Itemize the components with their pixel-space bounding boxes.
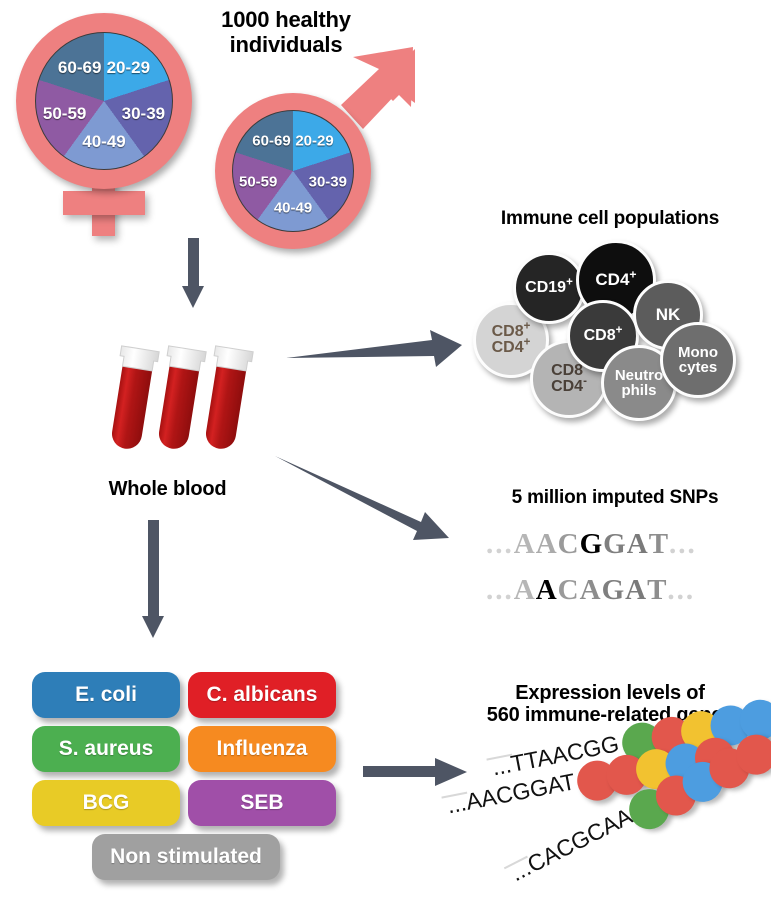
stimulus-label: Non stimulated bbox=[110, 845, 262, 869]
snp-base: A bbox=[514, 574, 536, 607]
snp-base: G bbox=[603, 528, 627, 561]
snp-variant-base: G bbox=[580, 528, 604, 561]
snp-sequence-row-1: ...AACGGAT... bbox=[486, 528, 697, 561]
snp-base: C bbox=[558, 574, 580, 607]
arrow-head bbox=[182, 286, 204, 308]
strand-sequence-text: ...CACGCAA bbox=[506, 803, 637, 887]
pie-slice-label-60-69: 60-69 bbox=[58, 58, 101, 78]
pie-slice-label-40-49: 40-49 bbox=[274, 199, 312, 216]
stimulus-e-coli[interactable]: E. coli bbox=[32, 672, 180, 718]
snp-base: . bbox=[505, 574, 514, 607]
snp-sequence-block: ...AACGGAT... ...AACAGAT... bbox=[486, 528, 736, 618]
snp-base: . bbox=[669, 528, 678, 561]
stimulus-bcg[interactable]: BCG bbox=[32, 780, 180, 826]
arrow-shaft bbox=[188, 238, 199, 290]
pie-slice-label-20-29: 20-29 bbox=[295, 133, 333, 150]
snp-base: A bbox=[627, 528, 649, 561]
snp-base: . bbox=[495, 528, 504, 561]
immune-cell-monocytes[interactable]: Monocytes bbox=[660, 322, 736, 398]
immune-cell-cluster: CD8+CD4+ CD8-CD4- CD19+ CD4+ CD8+ NK Neu… bbox=[455, 240, 755, 420]
immune-cell-label: Neutrophils bbox=[615, 368, 663, 399]
arrow-diagonal-blood-to-snps bbox=[273, 450, 463, 545]
pie-slice-label-40-49: 40-49 bbox=[82, 132, 125, 152]
snp-base: . bbox=[486, 574, 495, 607]
snp-base: A bbox=[625, 574, 647, 607]
stimulus-s-aureus[interactable]: S. aureus bbox=[32, 726, 180, 772]
pie-slice-label-50-59: 50-59 bbox=[239, 174, 277, 191]
immune-cell-label: CD19+ bbox=[525, 280, 573, 296]
snp-base: . bbox=[486, 528, 495, 561]
snp-base: . bbox=[678, 528, 687, 561]
stimulus-label: BCG bbox=[83, 791, 130, 815]
stimulus-label: S. aureus bbox=[59, 737, 154, 761]
stimulus-label: E. coli bbox=[75, 683, 137, 707]
snp-sequence-row-2: ...AACAGAT... bbox=[486, 574, 695, 607]
snp-base: . bbox=[686, 574, 695, 607]
immune-cell-label: CD8+ bbox=[584, 328, 623, 344]
snps-title: 5 million imputed SNPs bbox=[470, 487, 760, 508]
expression-strands-group: ...TTAACGG...AACGGAT...CACGCAA bbox=[455, 740, 771, 922]
arrow-down-blood-to-stimuli bbox=[140, 520, 166, 640]
immune-cell-label: CD4+ bbox=[595, 271, 636, 288]
stimulus-label: C. albicans bbox=[207, 683, 318, 707]
snp-base: . bbox=[505, 528, 514, 561]
pie-slice-label-30-39: 30-39 bbox=[309, 174, 347, 191]
snp-variant-base: A bbox=[536, 574, 558, 607]
immune-populations-title: Immune cell populations bbox=[455, 208, 765, 229]
snp-base: A bbox=[514, 528, 536, 561]
arrow-shaft bbox=[148, 520, 159, 620]
stimulus-label: SEB bbox=[240, 791, 283, 815]
whole-blood-label: Whole blood bbox=[80, 478, 255, 500]
pie-slice-label-20-29: 20-29 bbox=[107, 58, 150, 78]
stimuli-panel: E. coli C. albicans S. aureus Influenza … bbox=[30, 672, 350, 900]
expression-title-line1: Expression levels of bbox=[460, 682, 760, 704]
snp-base: C bbox=[558, 528, 580, 561]
male-gender-symbol: 20-2930-3940-4950-5960-69 bbox=[205, 45, 417, 250]
arrow-down-cohort-to-blood bbox=[180, 238, 206, 308]
pie-slice-label-60-69: 60-69 bbox=[252, 133, 290, 150]
immune-cell-label: NK bbox=[656, 306, 681, 323]
whole-blood-label-text: Whole blood bbox=[109, 478, 227, 500]
blood-tubes-group bbox=[105, 342, 265, 462]
pie-slice-label-30-39: 30-39 bbox=[122, 104, 165, 124]
immune-cell-label: CD8-CD4- bbox=[551, 363, 587, 396]
immune-cell-label: Monocytes bbox=[678, 345, 718, 376]
pie-slice-label-50-59: 50-59 bbox=[43, 104, 86, 124]
snp-base: A bbox=[580, 574, 602, 607]
stimulus-seb[interactable]: SEB bbox=[188, 780, 336, 826]
snp-base: . bbox=[688, 528, 697, 561]
immune-cell-label: CD8+CD4+ bbox=[492, 324, 531, 357]
snp-base: . bbox=[667, 574, 676, 607]
stimulus-influenza[interactable]: Influenza bbox=[188, 726, 336, 772]
arrow-head bbox=[142, 616, 164, 638]
snp-base: A bbox=[536, 528, 558, 561]
female-gender-symbol: 20-2930-3940-4950-5960-69 bbox=[8, 8, 194, 238]
snp-base: . bbox=[495, 574, 504, 607]
snp-base: T bbox=[649, 528, 669, 561]
snp-base: G bbox=[602, 574, 626, 607]
female-symbol-crossbar bbox=[63, 191, 145, 215]
immune-populations-title-text: Immune cell populations bbox=[501, 208, 719, 229]
arrow-right-blood-to-immune bbox=[286, 325, 466, 373]
snp-base: . bbox=[677, 574, 686, 607]
snps-title-text: 5 million imputed SNPs bbox=[512, 487, 719, 508]
stimulus-label: Influenza bbox=[216, 737, 307, 761]
stimulus-c-albicans[interactable]: C. albicans bbox=[188, 672, 336, 718]
stimulus-non-stimulated[interactable]: Non stimulated bbox=[92, 834, 280, 880]
snp-base: T bbox=[647, 574, 667, 607]
